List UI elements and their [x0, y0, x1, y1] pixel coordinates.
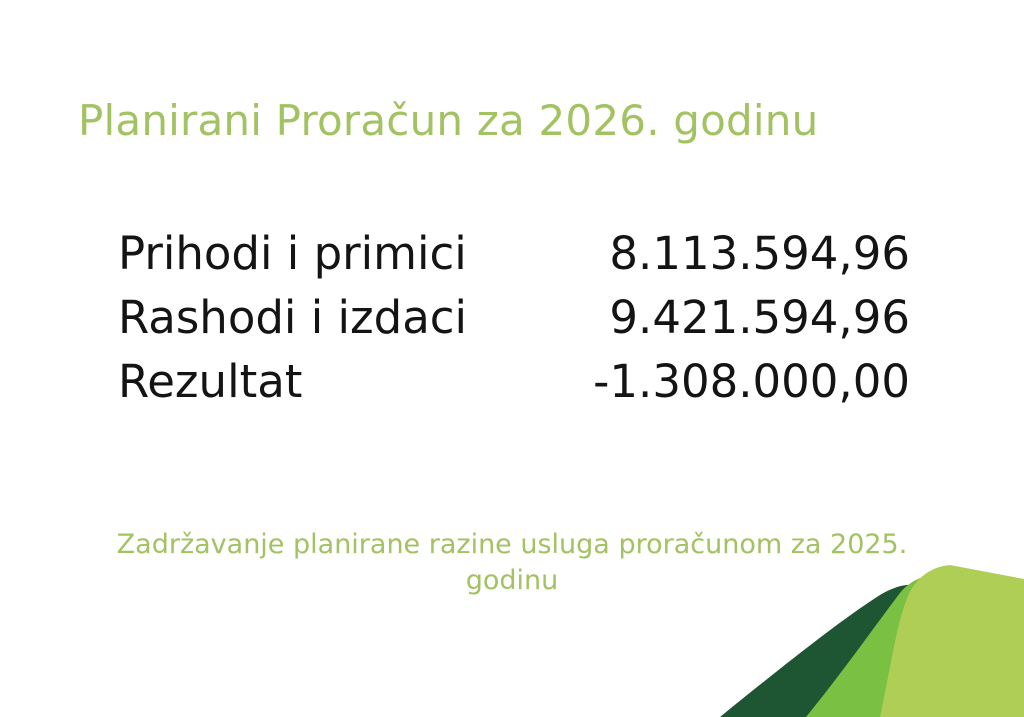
table-row: Rezultat -1.308.000,00 — [118, 350, 910, 414]
figure-value-rezultat: -1.308.000,00 — [593, 350, 910, 414]
figure-value-prihodi: 8.113.594,96 — [609, 222, 910, 286]
figure-label-rashodi: Rashodi i izdaci — [118, 286, 467, 350]
figure-label-prihodi: Prihodi i primici — [118, 222, 467, 286]
footer-note: Zadržavanje planirane razine usluga pror… — [112, 527, 912, 600]
figure-label-rezultat: Rezultat — [118, 350, 302, 414]
figure-value-rashodi: 9.421.594,96 — [609, 286, 910, 350]
table-row: Prihodi i primici 8.113.594,96 — [118, 222, 910, 286]
decoration-shape-dark — [720, 585, 937, 717]
table-row: Rashodi i izdaci 9.421.594,96 — [118, 286, 910, 350]
page-title: Planirani Proračun za 2026. godinu — [78, 96, 818, 146]
slide-canvas: Planirani Proračun za 2026. godinu Priho… — [0, 0, 1024, 717]
budget-figures-table: Prihodi i primici 8.113.594,96 Rashodi i… — [118, 222, 910, 414]
